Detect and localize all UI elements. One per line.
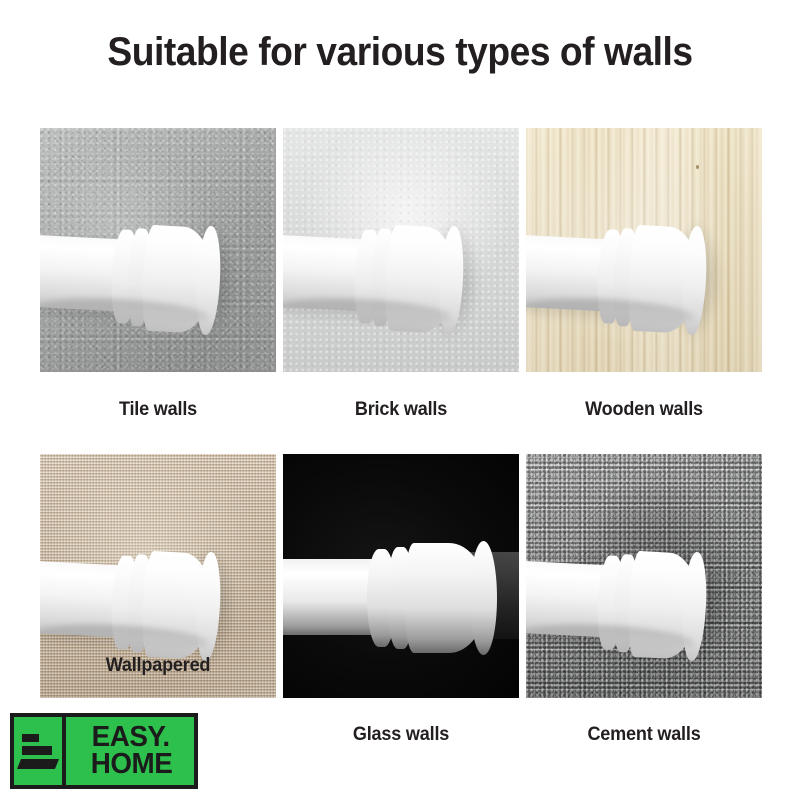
logo-line-easy: EASY.	[92, 724, 170, 751]
logo-bar-bottom	[17, 759, 59, 769]
photo-glass-wall	[283, 454, 519, 698]
logo-wordmark: EASY. HOME	[66, 717, 194, 785]
photo-cement-wall	[526, 454, 762, 698]
logo-bar-middle	[22, 746, 52, 755]
gallery-item-tile[interactable]	[40, 128, 276, 372]
caption-brick-walls: Brick walls	[289, 399, 513, 421]
gallery-item-glass[interactable]	[283, 454, 519, 698]
tension-rod-product	[40, 223, 236, 331]
photo-wooden-wall	[526, 128, 762, 372]
photo-tile-wall	[40, 128, 276, 372]
tension-rod-product	[40, 549, 236, 657]
caption-glass-walls: Glass walls	[289, 724, 513, 746]
brand-logo[interactable]: EASY. HOME	[10, 713, 198, 789]
logo-mark-icon	[14, 717, 66, 785]
tension-rod-product	[283, 547, 514, 649]
caption-wallpapered: Wallpapered	[46, 655, 270, 677]
logo-line-home: HOME	[90, 751, 172, 778]
photo-brick-wall	[283, 128, 519, 372]
tension-rod-product	[283, 223, 479, 331]
page-title: Suitable for various types of walls	[28, 30, 772, 75]
gallery-item-wooden[interactable]	[526, 128, 762, 372]
logo-bar-top	[22, 734, 39, 742]
caption-cement-walls: Cement walls	[532, 724, 756, 746]
rod-wall-disc	[470, 541, 497, 656]
wood-knot-speck	[696, 165, 699, 169]
tension-rod-product	[526, 549, 722, 657]
caption-tile-walls: Tile walls	[46, 399, 270, 421]
gallery-item-cement[interactable]	[526, 454, 762, 698]
tension-rod-product	[526, 223, 722, 331]
caption-wooden-walls: Wooden walls	[532, 399, 756, 421]
promo-page: Suitable for various types of walls	[0, 0, 800, 800]
gallery-item-brick[interactable]	[283, 128, 519, 372]
